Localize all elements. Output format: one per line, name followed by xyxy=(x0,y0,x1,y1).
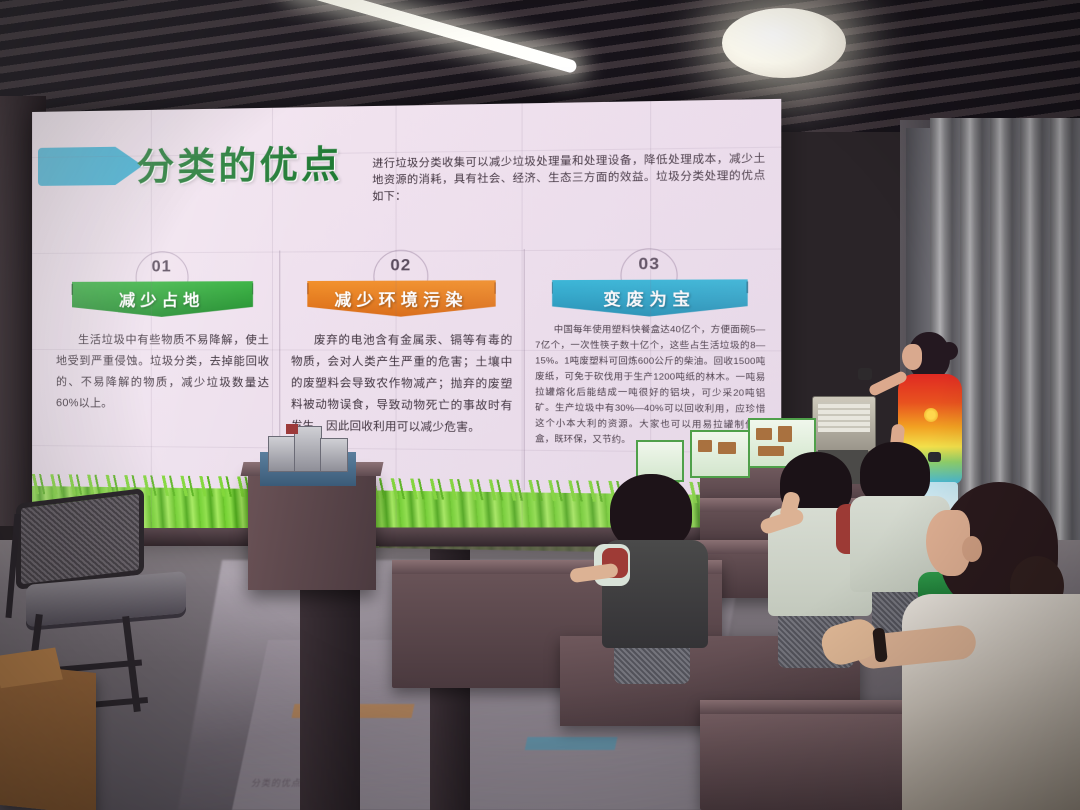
floor-reflection-text: 分类的优点 xyxy=(250,774,304,792)
slide-title: 分类的优点 xyxy=(137,133,343,191)
child-head xyxy=(610,474,692,550)
woman-top xyxy=(902,594,1080,810)
section-body-01: 生活垃圾中有些物质不易降解，使土地受到严重侵蚀。垃圾分类，去掉能回收的、不易降解… xyxy=(56,330,269,416)
child-front-left xyxy=(596,474,716,654)
section-number-02: 02 xyxy=(390,257,411,276)
section-ribbon-03: 变废为宝 xyxy=(552,279,748,316)
chair-backrest xyxy=(16,488,144,590)
vest-logo-icon xyxy=(924,408,938,422)
screenshot-root: 分类的优点 分类的优点 进行垃圾分类收集可以减少垃圾处理量和处理设备，降低处理成… xyxy=(0,0,1080,810)
green-exhibit-board-2 xyxy=(690,430,750,478)
model-block-a xyxy=(268,436,296,472)
linear-led-strip-light xyxy=(286,0,578,74)
presenter-hair-bun xyxy=(940,342,958,360)
model-red-accent xyxy=(286,424,298,434)
section-number-03: 03 xyxy=(638,256,660,275)
reflection-blue-band xyxy=(525,737,618,750)
woman-ear xyxy=(962,536,982,562)
presenter-face xyxy=(902,344,922,370)
blue-arrow-decor xyxy=(38,146,143,186)
presentation-clicker xyxy=(858,368,872,380)
section-ribbon-02: 减少环境污染 xyxy=(307,280,495,316)
adult-woman-foreground xyxy=(918,482,1080,810)
section-number-01: 01 xyxy=(152,258,172,276)
section-ribbon-01: 减少占地 xyxy=(72,281,253,317)
podium xyxy=(248,470,376,590)
miniature-building-model xyxy=(260,424,356,486)
model-block-b xyxy=(294,426,322,472)
model-block-c xyxy=(320,438,348,472)
dome-ceiling-light xyxy=(722,8,846,78)
section-body-02: 废弃的电池含有金属汞、镉等有毒的物质，会对人类产生严重的危害；土壤中的废塑料会导… xyxy=(291,330,513,439)
slide-intro-paragraph: 进行垃圾分类收集可以减少垃圾处理量和处理设备，降低处理成本，减少土地资源的消耗，… xyxy=(372,150,765,205)
cardboard-box xyxy=(0,663,96,810)
slide-section-01: 01 减少占地 生活垃圾中有些物质不易降解，使土地受到严重侵蚀。垃圾分类，去掉能… xyxy=(46,250,280,487)
